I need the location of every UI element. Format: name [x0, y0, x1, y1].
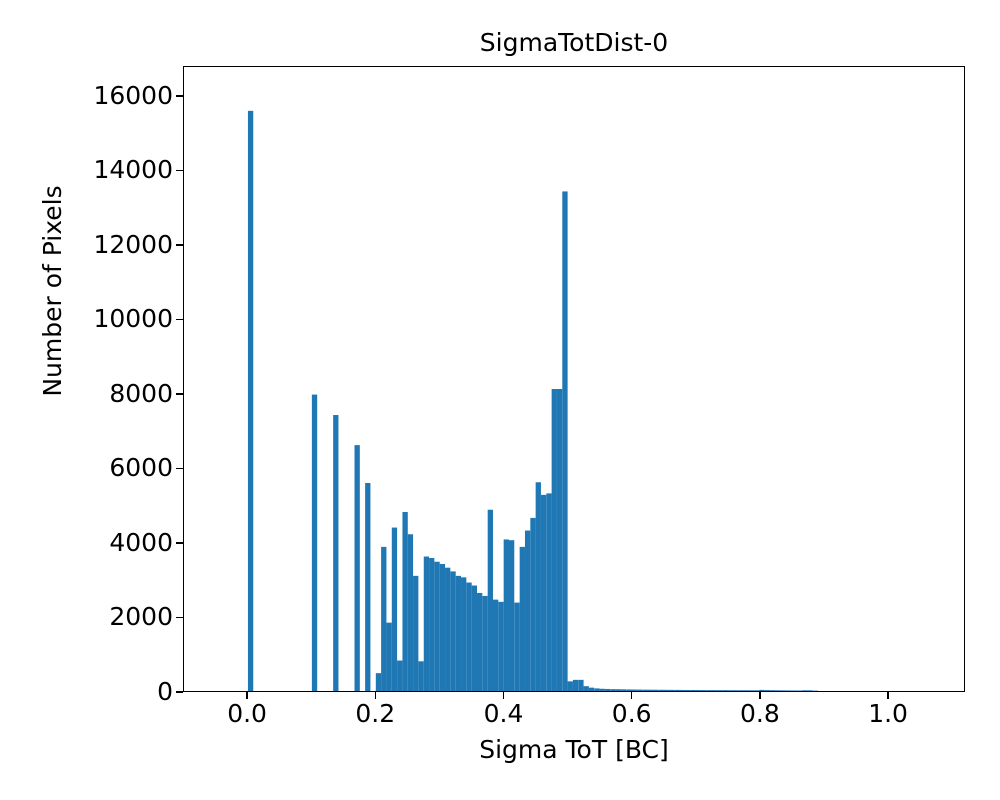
histogram-bar: [514, 603, 519, 691]
histogram-bar: [701, 690, 706, 691]
histogram-bar: [530, 518, 535, 691]
histogram-bar: [797, 690, 802, 691]
x-axis-tick-label: 0.0: [187, 700, 307, 728]
histogram-bar: [557, 389, 562, 691]
histogram-bar: [450, 571, 455, 691]
figure-canvas: SigmaTotDist-0 Number of Pixels 02000400…: [0, 0, 1000, 800]
histogram-bar: [408, 534, 413, 691]
histogram-bar: [759, 690, 764, 691]
histogram-bar: [781, 690, 786, 691]
histogram-bar: [749, 690, 754, 691]
histogram-bar: [525, 531, 530, 691]
histogram-bar: [498, 602, 503, 691]
histogram-bar: [717, 690, 722, 691]
histogram-bar: [312, 395, 317, 691]
histogram-bar: [429, 558, 434, 691]
histogram-bar: [562, 191, 567, 691]
x-axis-tick-label: 0.2: [315, 700, 435, 728]
x-axis-tick-mark: [759, 692, 760, 699]
histogram-bar: [685, 690, 690, 691]
histogram-bar: [743, 690, 748, 691]
y-axis-tick-mark: [176, 244, 183, 245]
y-axis-tick-label: 4000: [53, 530, 173, 555]
histogram-bar: [765, 690, 770, 691]
histogram-bar: [616, 689, 621, 691]
histogram-bar: [445, 568, 450, 691]
histogram-bar: [791, 690, 796, 691]
histogram-bar: [461, 577, 466, 691]
histogram-bar: [754, 690, 759, 691]
histogram-bar: [536, 482, 541, 691]
y-axis-tick-mark: [176, 691, 183, 692]
histogram-bar: [669, 690, 674, 691]
y-axis-tick-mark: [176, 170, 183, 171]
histogram-bar: [594, 688, 599, 691]
histogram-bar: [695, 690, 700, 691]
histogram-bar: [605, 689, 610, 691]
histogram-bar: [402, 512, 407, 691]
y-axis-tick-label: 6000: [53, 455, 173, 480]
chart-title: SigmaTotDist-0: [183, 28, 965, 58]
y-axis-tick-mark: [176, 468, 183, 469]
histogram-bar: [775, 690, 780, 691]
x-axis-tick-mark: [375, 692, 376, 699]
histogram-bar: [552, 389, 557, 691]
histogram-bar: [584, 686, 589, 691]
x-axis-tick-label: 0.6: [572, 700, 692, 728]
histogram-bar: [376, 673, 381, 691]
histogram-bar: [493, 600, 498, 691]
histogram-bar: [690, 690, 695, 691]
histogram-bar: [504, 539, 509, 691]
histogram-bars: [184, 67, 964, 691]
x-axis-tick-label: 0.4: [443, 700, 563, 728]
histogram-bar: [722, 690, 727, 691]
histogram-bar: [466, 583, 471, 691]
x-axis-tick-label: 0.8: [700, 700, 820, 728]
histogram-bar: [472, 586, 477, 691]
histogram-bar: [610, 689, 615, 691]
y-axis-tick-label: 16000: [53, 83, 173, 108]
y-axis-tick-label: 0: [53, 679, 173, 704]
histogram-bar: [424, 557, 429, 691]
x-axis-tick-mark: [246, 692, 247, 699]
histogram-bar: [482, 596, 487, 691]
histogram-bar: [786, 690, 791, 691]
histogram-bar: [802, 690, 807, 691]
y-axis-tick-label: 12000: [53, 232, 173, 257]
histogram-bar: [637, 690, 642, 691]
histogram-bar: [658, 690, 663, 691]
plot-area: [183, 66, 965, 692]
histogram-bar: [632, 690, 637, 691]
histogram-bar: [674, 690, 679, 691]
y-axis-tick-label: 2000: [53, 604, 173, 629]
histogram-bar: [392, 528, 397, 691]
y-axis-tick-label: 8000: [53, 381, 173, 406]
histogram-bar: [653, 690, 658, 691]
y-axis-tick-mark: [176, 617, 183, 618]
histogram-bar: [711, 690, 716, 691]
histogram-bar: [679, 690, 684, 691]
histogram-bar: [648, 690, 653, 691]
histogram-bar: [573, 680, 578, 691]
histogram-bar: [621, 689, 626, 691]
histogram-bar: [706, 690, 711, 691]
histogram-bar: [727, 690, 732, 691]
histogram-bar: [248, 111, 253, 691]
histogram-bar: [397, 661, 402, 691]
histogram-bar: [664, 690, 669, 691]
x-axis-tick-label: 1.0: [828, 700, 948, 728]
histogram-bar: [355, 445, 360, 691]
x-axis-tick-mark: [631, 692, 632, 699]
histogram-bar: [386, 623, 391, 691]
y-axis-tick-mark: [176, 542, 183, 543]
histogram-bar: [520, 547, 525, 691]
histogram-bar: [488, 510, 493, 691]
histogram-bar: [365, 483, 370, 691]
histogram-bar: [807, 690, 812, 691]
y-axis-tick-mark: [176, 95, 183, 96]
histogram-bar: [733, 690, 738, 691]
x-axis-label: Sigma ToT [BC]: [183, 735, 965, 765]
histogram-bar: [578, 680, 583, 691]
x-axis-tick-mark: [887, 692, 888, 699]
histogram-bar: [509, 540, 514, 691]
histogram-bar: [600, 689, 605, 691]
y-axis-tick-mark: [176, 393, 183, 394]
histogram-bar: [333, 415, 338, 691]
histogram-bar: [770, 690, 775, 691]
histogram-bar: [626, 689, 631, 691]
histogram-bar: [738, 690, 743, 691]
x-axis-tick-mark: [503, 692, 504, 699]
histogram-bar: [477, 593, 482, 691]
histogram-bar: [418, 661, 423, 691]
histogram-bar: [541, 495, 546, 691]
histogram-bar: [456, 576, 461, 691]
histogram-bar: [568, 681, 573, 691]
y-axis-tick-label: 14000: [53, 157, 173, 182]
histogram-bar: [434, 562, 439, 691]
y-axis-tick-mark: [176, 319, 183, 320]
y-axis-tick-label: 10000: [53, 306, 173, 331]
histogram-bar: [546, 493, 551, 691]
histogram-bar: [642, 690, 647, 691]
histogram-bar: [381, 547, 386, 691]
histogram-bar: [440, 564, 445, 691]
histogram-bar: [589, 688, 594, 691]
histogram-bar: [413, 576, 418, 691]
